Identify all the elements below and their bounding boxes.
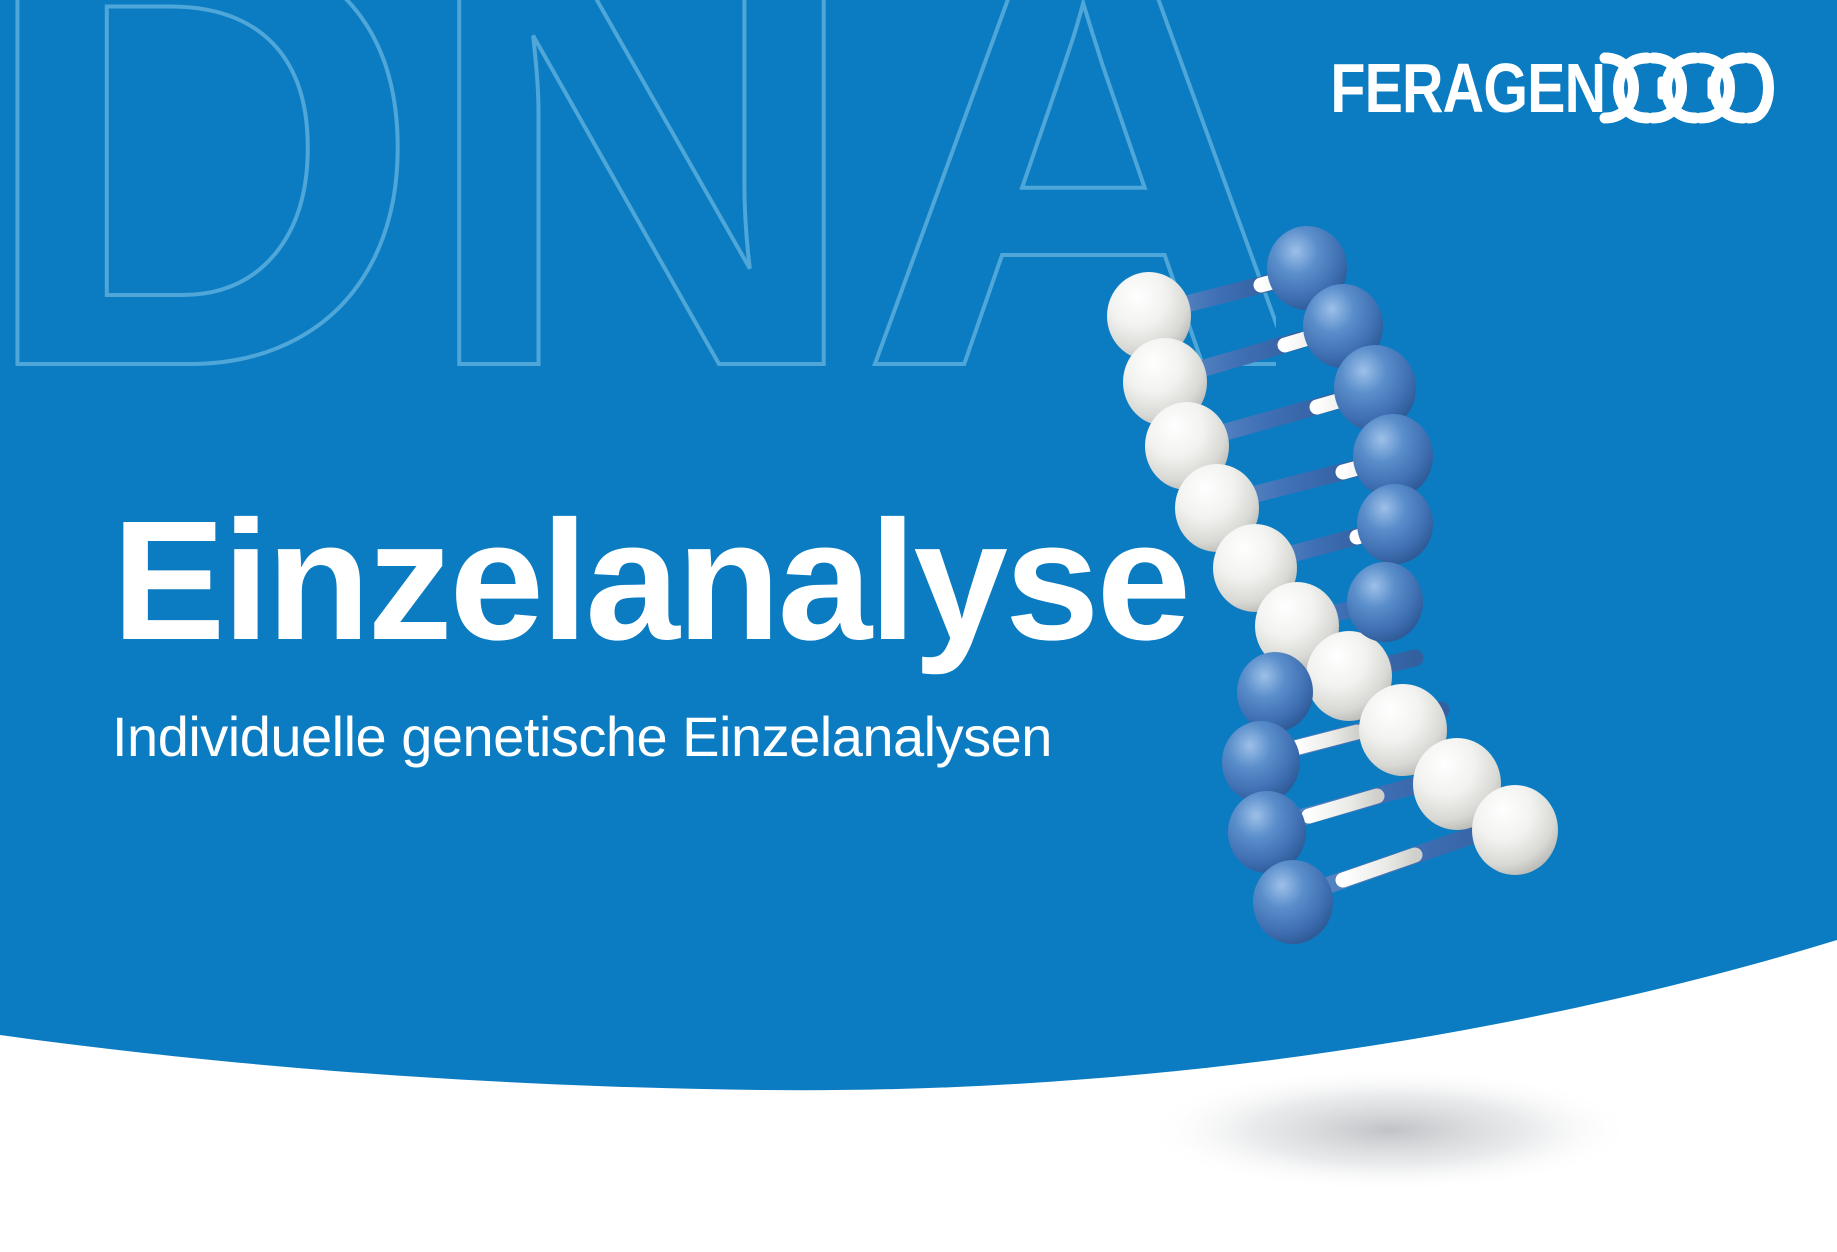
logo-wordmark: FERAGEN (1330, 53, 1605, 123)
dna-einzelanalyse-banner: DNA FERAGEN Einzelanalyse Indiv (0, 0, 1837, 1252)
page-subtitle: Individuelle genetische Einzelanalysen (112, 706, 1162, 768)
feragen-logo[interactable]: FERAGEN (1270, 52, 1775, 124)
page-title: Einzelanalyse (112, 496, 1162, 666)
copy-block: Einzelanalyse Individuelle genetische Ei… (112, 496, 1162, 768)
dna-helix-icon (1599, 50, 1775, 126)
